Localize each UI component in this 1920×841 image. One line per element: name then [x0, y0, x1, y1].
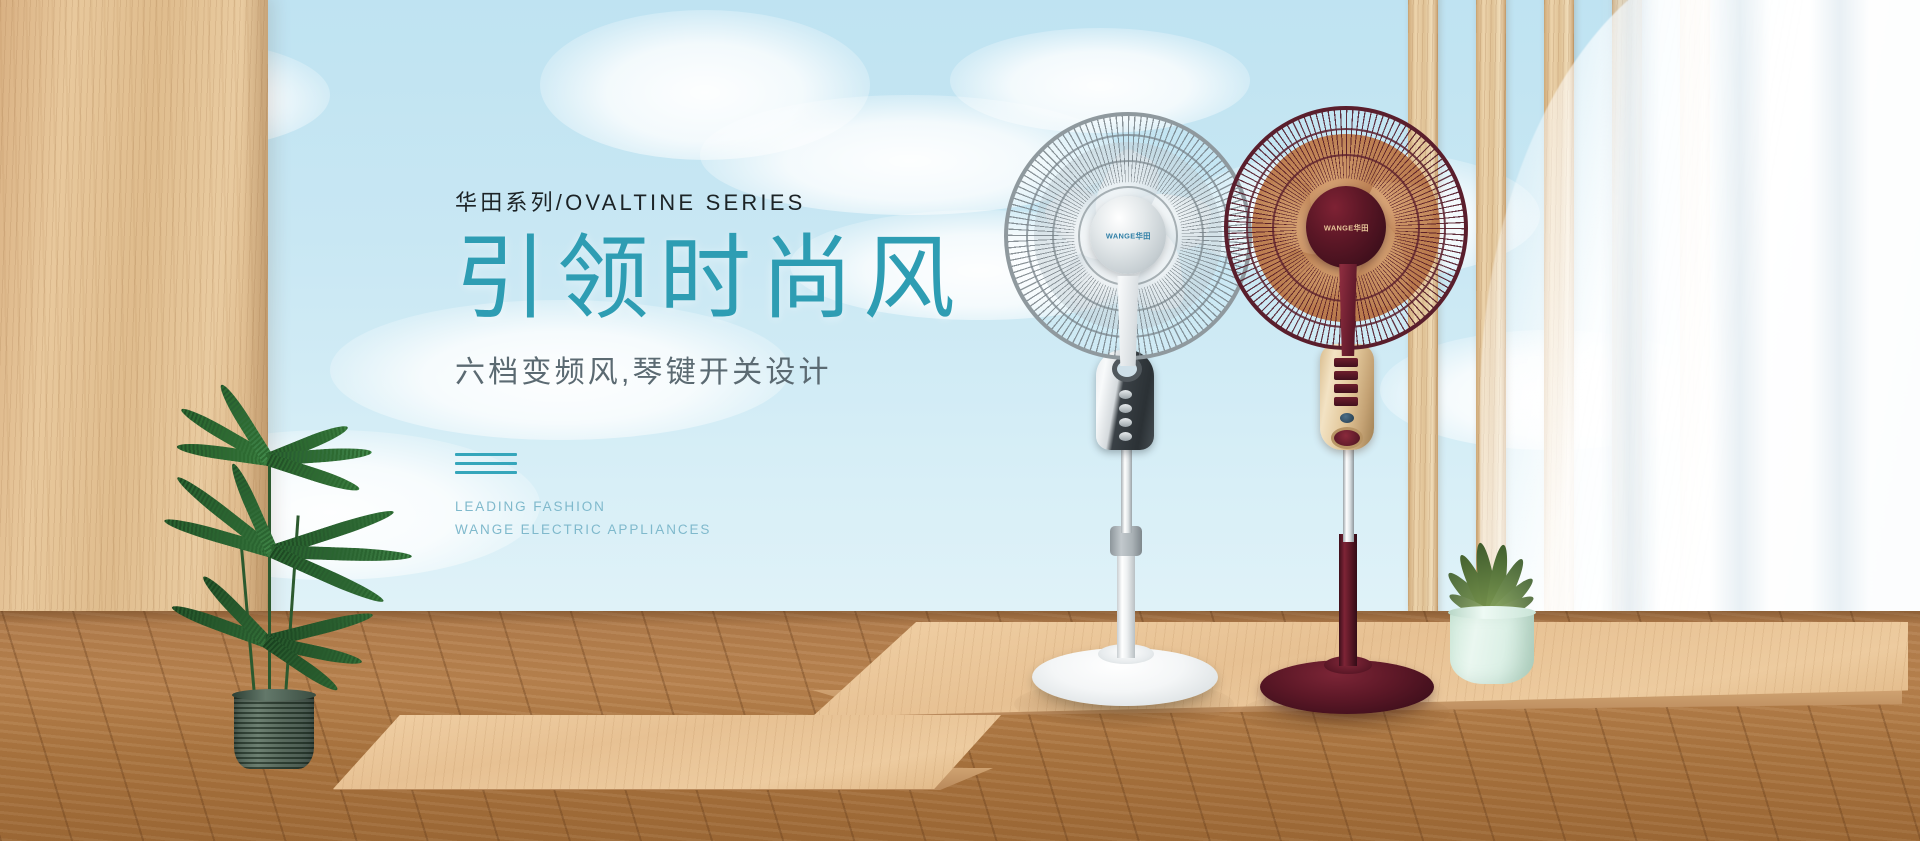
subheadline: 六档变频风,琴键开关设计	[455, 347, 965, 391]
fan-silver-pole-lower	[1117, 540, 1135, 658]
fan-bronze-indicator	[1340, 413, 1354, 423]
fan-bronze-control-panel[interactable]	[1320, 344, 1374, 450]
series-eyebrow: 华田系列/OVALTINE SERIES	[455, 185, 965, 217]
palm-pot-rim	[232, 689, 316, 701]
fan-bronze-pole-upper	[1343, 434, 1354, 542]
fan-silver-pole-upper	[1121, 438, 1132, 533]
fan-bronze-hub: WANGE华田	[1306, 186, 1386, 268]
fan-bronze-timer-dial[interactable]	[1331, 427, 1363, 449]
palm-stem-1	[268, 455, 271, 725]
fan-silver[interactable]: WANGE华田	[1000, 108, 1260, 728]
fan-bronze-key-4[interactable]	[1334, 397, 1358, 406]
fan-bronze-pole-lower	[1339, 534, 1357, 666]
fan-silver-hub: WANGE华田	[1090, 196, 1166, 274]
banner-text-block: 华田系列/OVALTINE SERIES 引领时尚风 六档变频风,琴键开关设计 …	[455, 185, 965, 541]
fan-silver-head[interactable]: WANGE华田	[1000, 108, 1255, 363]
fan-bronze[interactable]: WANGE华田	[1222, 104, 1472, 724]
rule-line-1	[455, 453, 517, 456]
footer-line-1: LEADING FASHION	[455, 496, 965, 519]
fan-silver-button-1[interactable]	[1119, 390, 1132, 399]
fan-bronze-key-2[interactable]	[1334, 371, 1358, 380]
footer-line-2: WANGE ELECTRIC APPLIANCES	[455, 519, 965, 542]
fan-bronze-key-1[interactable]	[1334, 358, 1358, 367]
potted-palm-plant	[140, 395, 440, 775]
fan-bronze-head[interactable]: WANGE华田	[1222, 104, 1470, 352]
rule-line-3	[455, 471, 517, 474]
fan-silver-button-3[interactable]	[1119, 418, 1132, 427]
decorative-rules	[455, 453, 517, 474]
palm-pot	[234, 693, 314, 769]
footer-english-block: LEADING FASHION WANGE ELECTRIC APPLIANCE…	[455, 496, 965, 541]
fan-silver-button-2[interactable]	[1119, 404, 1132, 413]
fan-silver-button-4[interactable]	[1119, 432, 1132, 441]
headline: 引领时尚风	[455, 233, 965, 327]
product-banner: WANGE华田	[0, 0, 1920, 841]
fan-bronze-hub-logo: WANGE华田	[1324, 222, 1369, 233]
rule-line-2	[455, 462, 517, 465]
fan-bronze-key-3[interactable]	[1334, 384, 1358, 393]
fan-silver-hub-logo: WANGE华田	[1106, 230, 1151, 241]
